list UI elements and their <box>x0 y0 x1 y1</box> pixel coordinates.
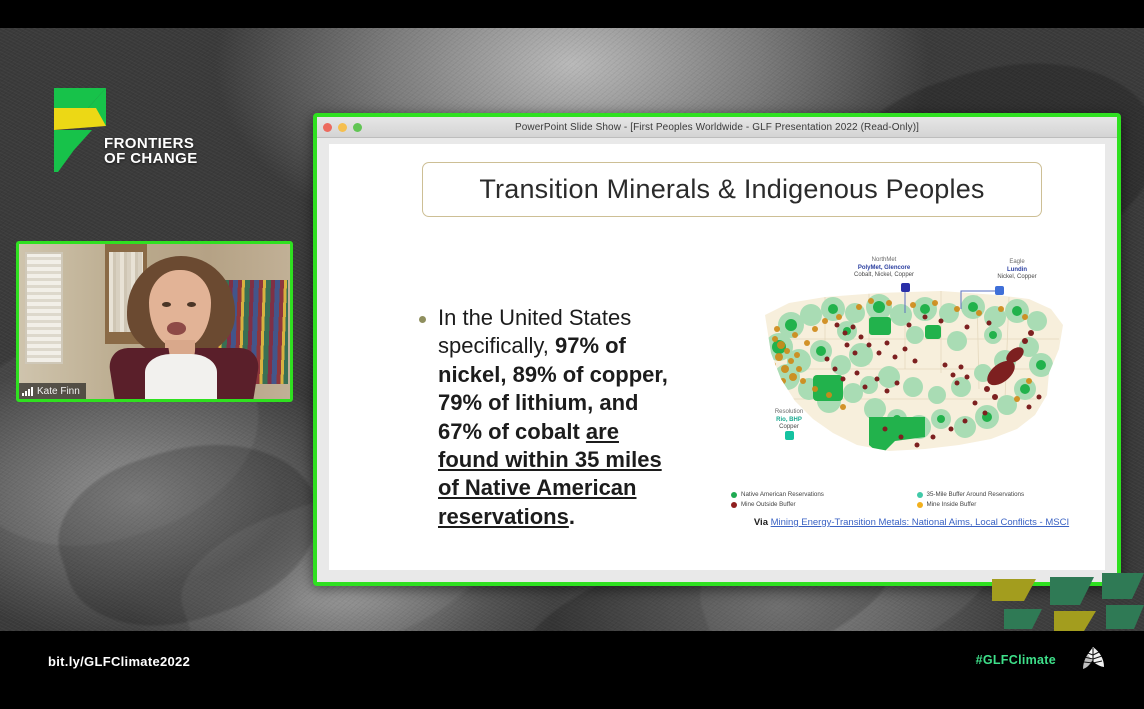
annotation-site: NorthMet <box>834 257 934 265</box>
speaker-mouth <box>167 322 186 335</box>
annotation-minerals: Copper <box>779 424 799 432</box>
event-url: bit.ly/GLFClimate2022 <box>48 654 190 669</box>
legend-label: Mine Inside Buffer <box>927 501 977 508</box>
frontiers-of-change-logo: FRONTIERS OF CHANGE <box>48 86 254 167</box>
glf-leaf-logo <box>1078 645 1108 675</box>
annotation-company: PolyMet, Glencore <box>834 265 934 273</box>
map-annotation-northmet: NorthMet PolyMet, Glencore Cobalt, Nicke… <box>834 257 934 280</box>
legend-dot-icon <box>731 502 737 508</box>
map-annotation-eagle: Eagle Lundin Nickel, Copper <box>977 259 1057 282</box>
legend-label: Mine Outside Buffer <box>741 501 796 508</box>
annotation-mineral-row: Copper <box>751 424 827 432</box>
speaker-eye-left <box>162 302 171 307</box>
slide-title: Transition Minerals & Indigenous Peoples <box>479 174 984 205</box>
annotation-company: Lundin <box>977 267 1057 275</box>
participant-name: Kate Finn <box>37 386 80 397</box>
window-titlebar[interactable]: PowerPoint Slide Show - [First Peoples W… <box>317 117 1117 138</box>
slide-canvas[interactable]: Transition Minerals & Indigenous Peoples… <box>329 144 1105 570</box>
event-hashtag: #GLFClimate <box>976 653 1056 667</box>
window-blinds <box>25 252 63 364</box>
annotation-minerals: Cobalt, Nickel, Copper <box>834 272 934 280</box>
annotation-mineral-row: Nickel, Copper <box>977 274 1057 282</box>
us-mining-map: NorthMet PolyMet, Glencore Cobalt, Nicke… <box>729 269 1094 539</box>
broadcast-stage: FRONTIERS OF CHANGE Kate Finn <box>0 0 1144 709</box>
speaker-video-tile[interactable]: Kate Finn <box>16 241 293 402</box>
legend-item: 35-Mile Buffer Around Reservations <box>917 491 1095 498</box>
window-title: PowerPoint Slide Show - [First Peoples W… <box>317 122 1117 133</box>
foc-logo-text: FRONTIERS OF CHANGE <box>104 136 254 167</box>
source-link[interactable]: Mining Energy-Transition Metals: Nationa… <box>771 517 1069 528</box>
speaker-figure <box>115 256 247 402</box>
decorative-triangles <box>984 571 1144 631</box>
legend-label: 35-Mile Buffer Around Reservations <box>927 491 1025 498</box>
map-legend: Native American Reservations 35-Mile Buf… <box>731 491 1094 508</box>
annotation-minerals: Nickel, Copper <box>997 274 1036 282</box>
legend-dot-icon <box>731 492 737 498</box>
legend-item: Native American Reservations <box>731 491 909 498</box>
close-button[interactable] <box>323 123 332 132</box>
foc-logo-line1: FRONTIERS <box>104 136 254 151</box>
legend-label: Native American Reservations <box>741 491 824 498</box>
annotation-company: Rio, BHP <box>751 417 827 425</box>
letterbox-bottom <box>0 631 1144 709</box>
annotation-site: Resolution <box>751 409 827 417</box>
map-graphic <box>729 269 1094 484</box>
legend-dot-icon <box>917 492 923 498</box>
legend-dot-icon <box>917 502 923 508</box>
slide-source-citation: Via Mining Energy-Transition Metals: Nat… <box>739 517 1084 530</box>
annotation-site: Eagle <box>977 259 1057 267</box>
minimize-button[interactable] <box>338 123 347 132</box>
map-annotation-resolution: Resolution Rio, BHP Copper <box>751 409 827 432</box>
powerpoint-window[interactable]: PowerPoint Slide Show - [First Peoples W… <box>313 113 1121 586</box>
bullet-text: In the United States specifically, 97% o… <box>438 304 684 531</box>
speaker-eye-right <box>187 302 196 307</box>
legend-item: Mine Outside Buffer <box>731 501 909 508</box>
foc-logo-mark <box>48 86 122 174</box>
foc-logo-line2: OF CHANGE <box>104 151 254 166</box>
bullet-marker-icon <box>419 316 426 323</box>
zoom-button[interactable] <box>353 123 362 132</box>
window-traffic-lights[interactable] <box>323 123 362 132</box>
participant-name-bar: Kate Finn <box>19 383 86 399</box>
slide-title-box: Transition Minerals & Indigenous Peoples <box>422 162 1042 217</box>
letterbox-top <box>0 0 1144 28</box>
speaker-shirt <box>145 354 217 402</box>
legend-item: Mine Inside Buffer <box>917 501 1095 508</box>
slide-bullet: In the United States specifically, 97% o… <box>419 304 684 531</box>
source-prefix: Via <box>754 517 771 528</box>
signal-strength-icon <box>22 387 33 396</box>
